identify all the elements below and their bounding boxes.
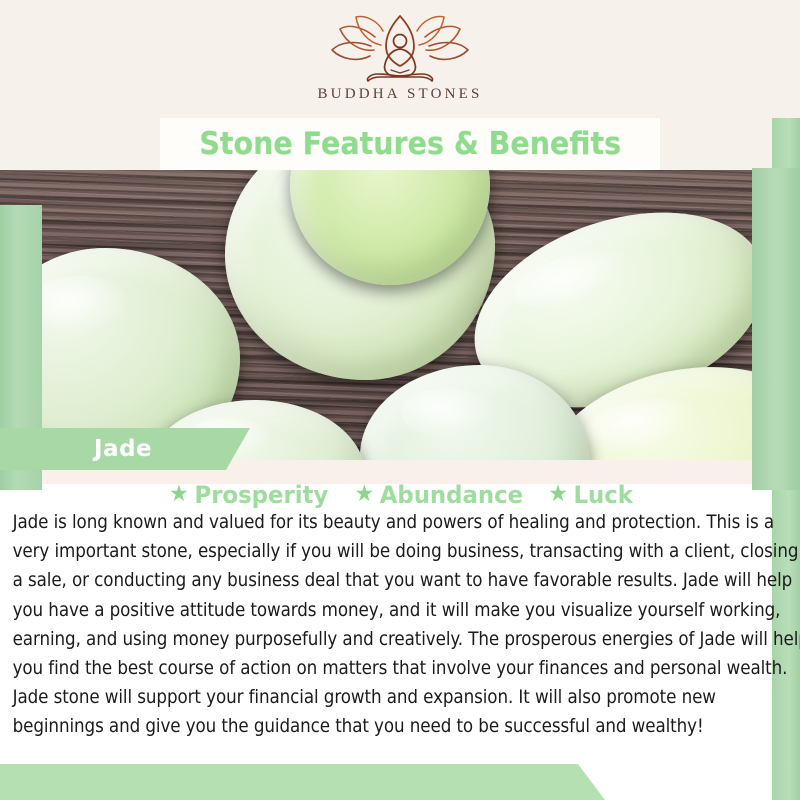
jade-tumbled-stones-photo [0, 170, 800, 460]
benefit-label: Abundance [380, 481, 523, 509]
brand-name: BUDDHA STONES [317, 86, 482, 103]
stone-name-label: Jade [94, 436, 152, 462]
title-banner: Stone Features & Benefits [160, 118, 660, 170]
benefit-item: ★ Luck [548, 481, 633, 509]
benefit-label: Prosperity [194, 481, 328, 509]
benefit-item: ★ Abundance [355, 481, 524, 509]
star-icon: ★ [548, 483, 568, 506]
description-text: Jade is long known and valued for its be… [0, 508, 800, 742]
star-icon: ★ [169, 483, 189, 506]
infographic-page: BUDDHA STONES Stone Features & Benefits … [0, 0, 800, 800]
header: BUDDHA STONES [0, 0, 800, 118]
stone-name-banner: Jade [0, 428, 250, 470]
decorative-green-bar-right-wide [752, 168, 800, 490]
benefit-label: Luck [573, 481, 632, 509]
benefits-row: ★ Prosperity ★ Abundance ★ Luck [0, 478, 800, 512]
description-section: Jade is long known and valued for its be… [0, 508, 800, 776]
lotus-meditation-icon [325, 14, 475, 82]
brand-logo: BUDDHA STONES [0, 14, 800, 103]
page-title: Stone Features & Benefits [199, 126, 621, 162]
benefit-item: ★ Prosperity [169, 481, 328, 509]
star-icon: ★ [355, 483, 375, 506]
